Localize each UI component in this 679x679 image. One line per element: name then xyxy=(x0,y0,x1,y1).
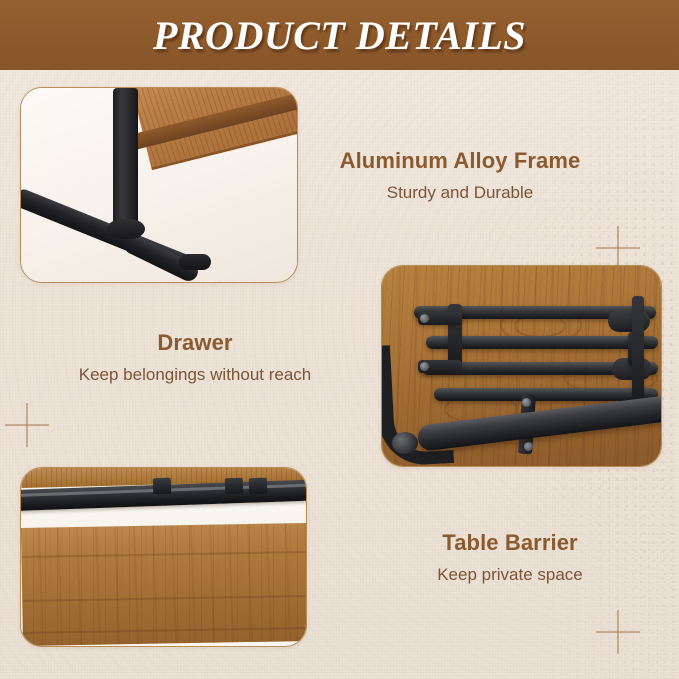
feature-title-aluminum-alloy-frame: Aluminum Alloy Frame xyxy=(325,148,595,174)
metal-hinge-knob xyxy=(392,432,418,454)
drawer-rail-tab xyxy=(249,478,268,495)
feature-text-aluminum-alloy-frame: Aluminum Alloy Frame Sturdy and Durable xyxy=(325,148,595,203)
barrier-side-post xyxy=(632,296,644,408)
metal-table-leg xyxy=(113,88,138,238)
photo-drawer xyxy=(21,468,306,646)
feature-subtitle-drawer: Keep belongings without reach xyxy=(35,365,355,385)
photo-panel-table-barrier xyxy=(381,265,662,467)
barrier-screw xyxy=(420,362,429,371)
feature-text-table-barrier: Table Barrier Keep private space xyxy=(360,530,660,585)
feature-title-drawer: Drawer xyxy=(35,330,355,356)
feature-text-drawer: Drawer Keep belongings without reach xyxy=(35,330,355,385)
feature-subtitle-table-barrier: Keep private space xyxy=(360,565,660,585)
wood-plank-seam xyxy=(22,595,307,602)
feature-subtitle-aluminum-alloy-frame: Sturdy and Durable xyxy=(325,183,595,203)
barrier-screw xyxy=(420,314,429,323)
barrier-screw xyxy=(524,442,533,451)
metal-leg-joint xyxy=(107,219,145,239)
photo-table-barrier xyxy=(382,266,661,466)
metal-foot-cap xyxy=(179,254,211,270)
page-title: PRODUCT DETAILS xyxy=(153,12,526,59)
drawer-rail-tab xyxy=(153,478,172,495)
photo-aluminum-alloy-frame xyxy=(21,88,297,282)
feature-title-table-barrier: Table Barrier xyxy=(360,530,660,556)
photo-panel-drawer xyxy=(20,467,307,647)
photo-panel-aluminum-alloy-frame xyxy=(20,87,298,283)
wood-tabletop-surface xyxy=(21,523,307,646)
product-details-infographic: PRODUCT DETAILS xyxy=(0,0,679,679)
barrier-rail-4 xyxy=(434,388,658,401)
wood-plank-seam xyxy=(23,627,307,634)
barrier-screw xyxy=(522,398,531,407)
wood-plank-seam xyxy=(21,551,306,558)
header-banner: PRODUCT DETAILS xyxy=(0,0,679,70)
drawer-rail-tab xyxy=(225,478,244,495)
